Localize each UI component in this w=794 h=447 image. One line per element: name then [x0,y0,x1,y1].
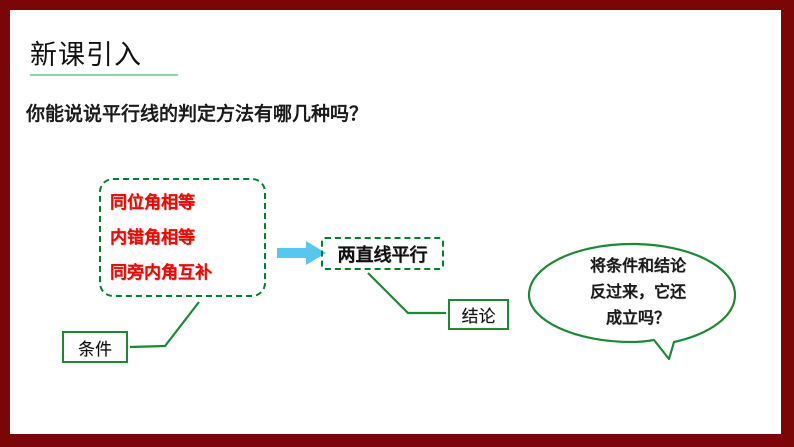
page-title: 新课引入 [30,38,178,72]
condition-line-3: 同旁内角互补 [110,255,212,290]
condition-line-1: 同位角相等 [110,185,195,220]
condition-line-2: 内错角相等 [110,220,195,255]
leader-line-condition [130,302,199,347]
conclusion-label-text: 结论 [462,302,496,327]
callout-line-3: 成立吗？ [563,306,713,332]
callout-line-1: 将条件和结论 [563,254,713,280]
right-arrow-icon [277,240,327,266]
conclusion-label-box: 结论 [448,299,509,330]
condition-label-box: 条件 [62,331,128,363]
parallel-lines-box: 两直线平行 [321,237,444,270]
title-underline-rule [30,74,178,76]
conditions-box: 同位角相等 内错角相等 同旁内角互补 [99,178,266,297]
leader-line-conclusion [368,273,446,313]
slide-frame: 新课引入 你能说说平行线的判定方法有哪几种吗？ 同位角相等 内错角相等 同旁内角… [0,0,794,447]
condition-label-text: 条件 [78,335,112,360]
page-title-block: 新课引入 [30,38,178,76]
callout-text: 将条件和结论 反过来，它还 成立吗？ [563,254,713,332]
callout-line-2: 反过来，它还 [563,280,713,306]
lead-question: 你能说说平行线的判定方法有哪几种吗？ [26,102,368,128]
question-callout-bubble: 将条件和结论 反过来，它还 成立吗？ [518,232,748,362]
slide-canvas: 新课引入 你能说说平行线的判定方法有哪几种吗？ 同位角相等 内错角相等 同旁内角… [10,10,781,434]
parallel-lines-text: 两直线平行 [338,241,428,267]
